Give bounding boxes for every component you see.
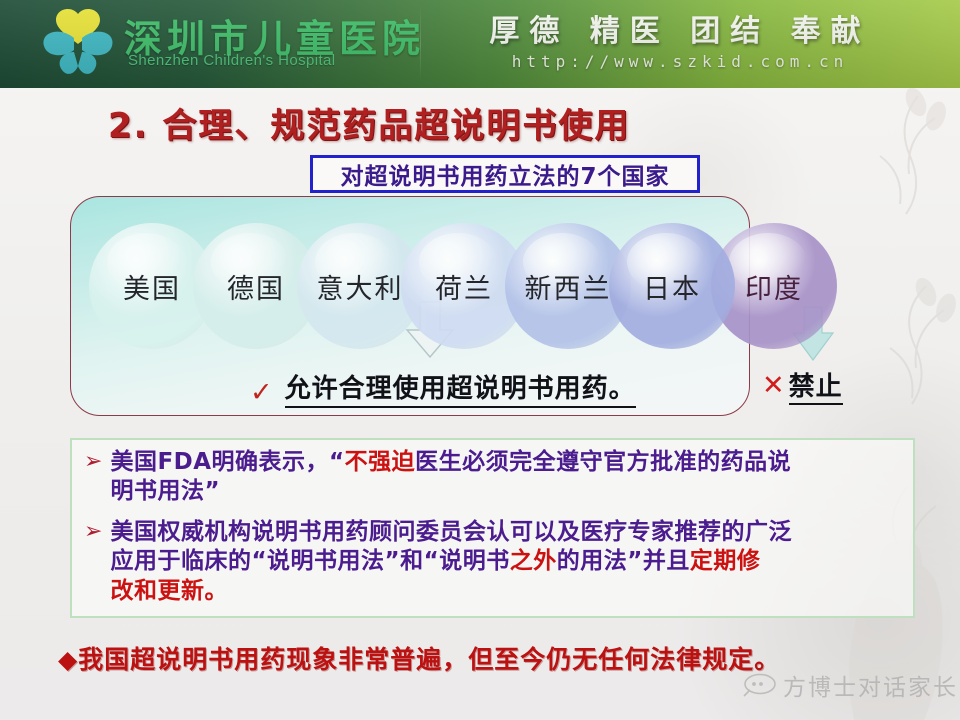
bullet-segment: 的用法”并且 — [557, 548, 690, 574]
bullet-segment: 定期修 — [690, 548, 761, 574]
bullet-text-1: 美国FDA明确表示，“不强迫医生必须完全遵守官方批准的药品说明书用法” — [110, 448, 791, 507]
butterfly-heart-logo-icon — [38, 8, 118, 80]
bullet-segment: 明书用法” — [110, 478, 220, 504]
hospital-motto: 厚德 精医 团结 奉献 — [470, 6, 890, 50]
bottom-note: ◆我国超说明书用药现象非常普遍，但至今仍无任何法律规定。 — [58, 640, 780, 676]
bottom-note-marker: ◆ — [58, 645, 78, 674]
bullet-segment: 医生必须完全遵守官方批准的药品说 — [415, 449, 791, 475]
list-item: ➢ 美国FDA明确表示，“不强迫医生必须完全遵守官方批准的药品说明书用法” — [84, 448, 904, 507]
bullet-segment: 改和更新。 — [110, 578, 228, 604]
check-mark-icon: ✓ — [250, 379, 273, 406]
allow-statement-text: 允许合理使用超说明书用药。 — [285, 368, 636, 408]
hospital-name-cn: 深圳市儿童医院 — [124, 8, 425, 63]
ban-label: ✕ 禁止 — [762, 366, 843, 405]
bullet-segment: 不强迫 — [345, 449, 416, 475]
country-label: 德国 — [227, 267, 285, 306]
list-item: ➢ 美国权威机构说明书用药顾问委员会认可以及医疗专家推荐的广泛应用于临床的“说明… — [84, 518, 904, 606]
bullet-segment: 美国FDA明确表示，“ — [110, 449, 344, 475]
watermark-text: 方博士对话家长 — [783, 668, 958, 702]
bullet-segment: 美国权威机构说明书用药顾问委员会认可以及医疗专家推荐的广泛 — [110, 519, 792, 545]
country-label: 意大利 — [317, 267, 404, 306]
ban-label-text: 禁止 — [789, 366, 843, 405]
country-bubble-6[interactable]: 日本 — [609, 223, 735, 349]
bullet-box: ➢ 美国FDA明确表示，“不强迫医生必须完全遵守官方批准的药品说明书用法” ➢ … — [70, 438, 915, 618]
country-label: 日本 — [643, 267, 701, 306]
page-title: 2. 合理、规范药品超说明书使用 — [108, 98, 630, 147]
bottom-note-text: 我国超说明书用药现象非常普遍，但至今仍无任何法律规定。 — [78, 645, 780, 674]
country-label: 印度 — [745, 267, 803, 306]
country-label: 美国 — [123, 267, 181, 306]
cross-mark-icon: ✕ — [762, 370, 785, 401]
hospital-website-url: http://www.szkid.com.cn — [470, 52, 890, 71]
bullet-arrow-icon: ➢ — [84, 448, 102, 507]
banner-divider — [420, 6, 421, 82]
channel-watermark: 方博士对话家长 — [742, 668, 958, 702]
country-label: 荷兰 — [435, 267, 493, 306]
header-banner: 深圳市儿童医院 Shenzhen Children's Hospital 厚德 … — [0, 0, 960, 88]
bullet-segment: 应用于临床的“说明书用法”和“说明书 — [110, 548, 509, 574]
country-label: 新西兰 — [525, 267, 612, 306]
allow-statement: ✓ 允许合理使用超说明书用药。 — [250, 368, 636, 408]
bullet-text-2: 美国权威机构说明书用药顾问委员会认可以及医疗专家推荐的广泛应用于临床的“说明书用… — [110, 518, 792, 606]
bullet-arrow-icon: ➢ — [84, 518, 102, 606]
speech-bubble-icon — [742, 673, 776, 697]
hospital-name-en: Shenzhen Children's Hospital — [128, 52, 336, 69]
bullet-segment: 之外 — [510, 548, 557, 574]
subtitle-box: 对超说明书用药立法的7个国家 — [310, 155, 700, 193]
subtitle-text: 对超说明书用药立法的7个国家 — [340, 157, 669, 191]
